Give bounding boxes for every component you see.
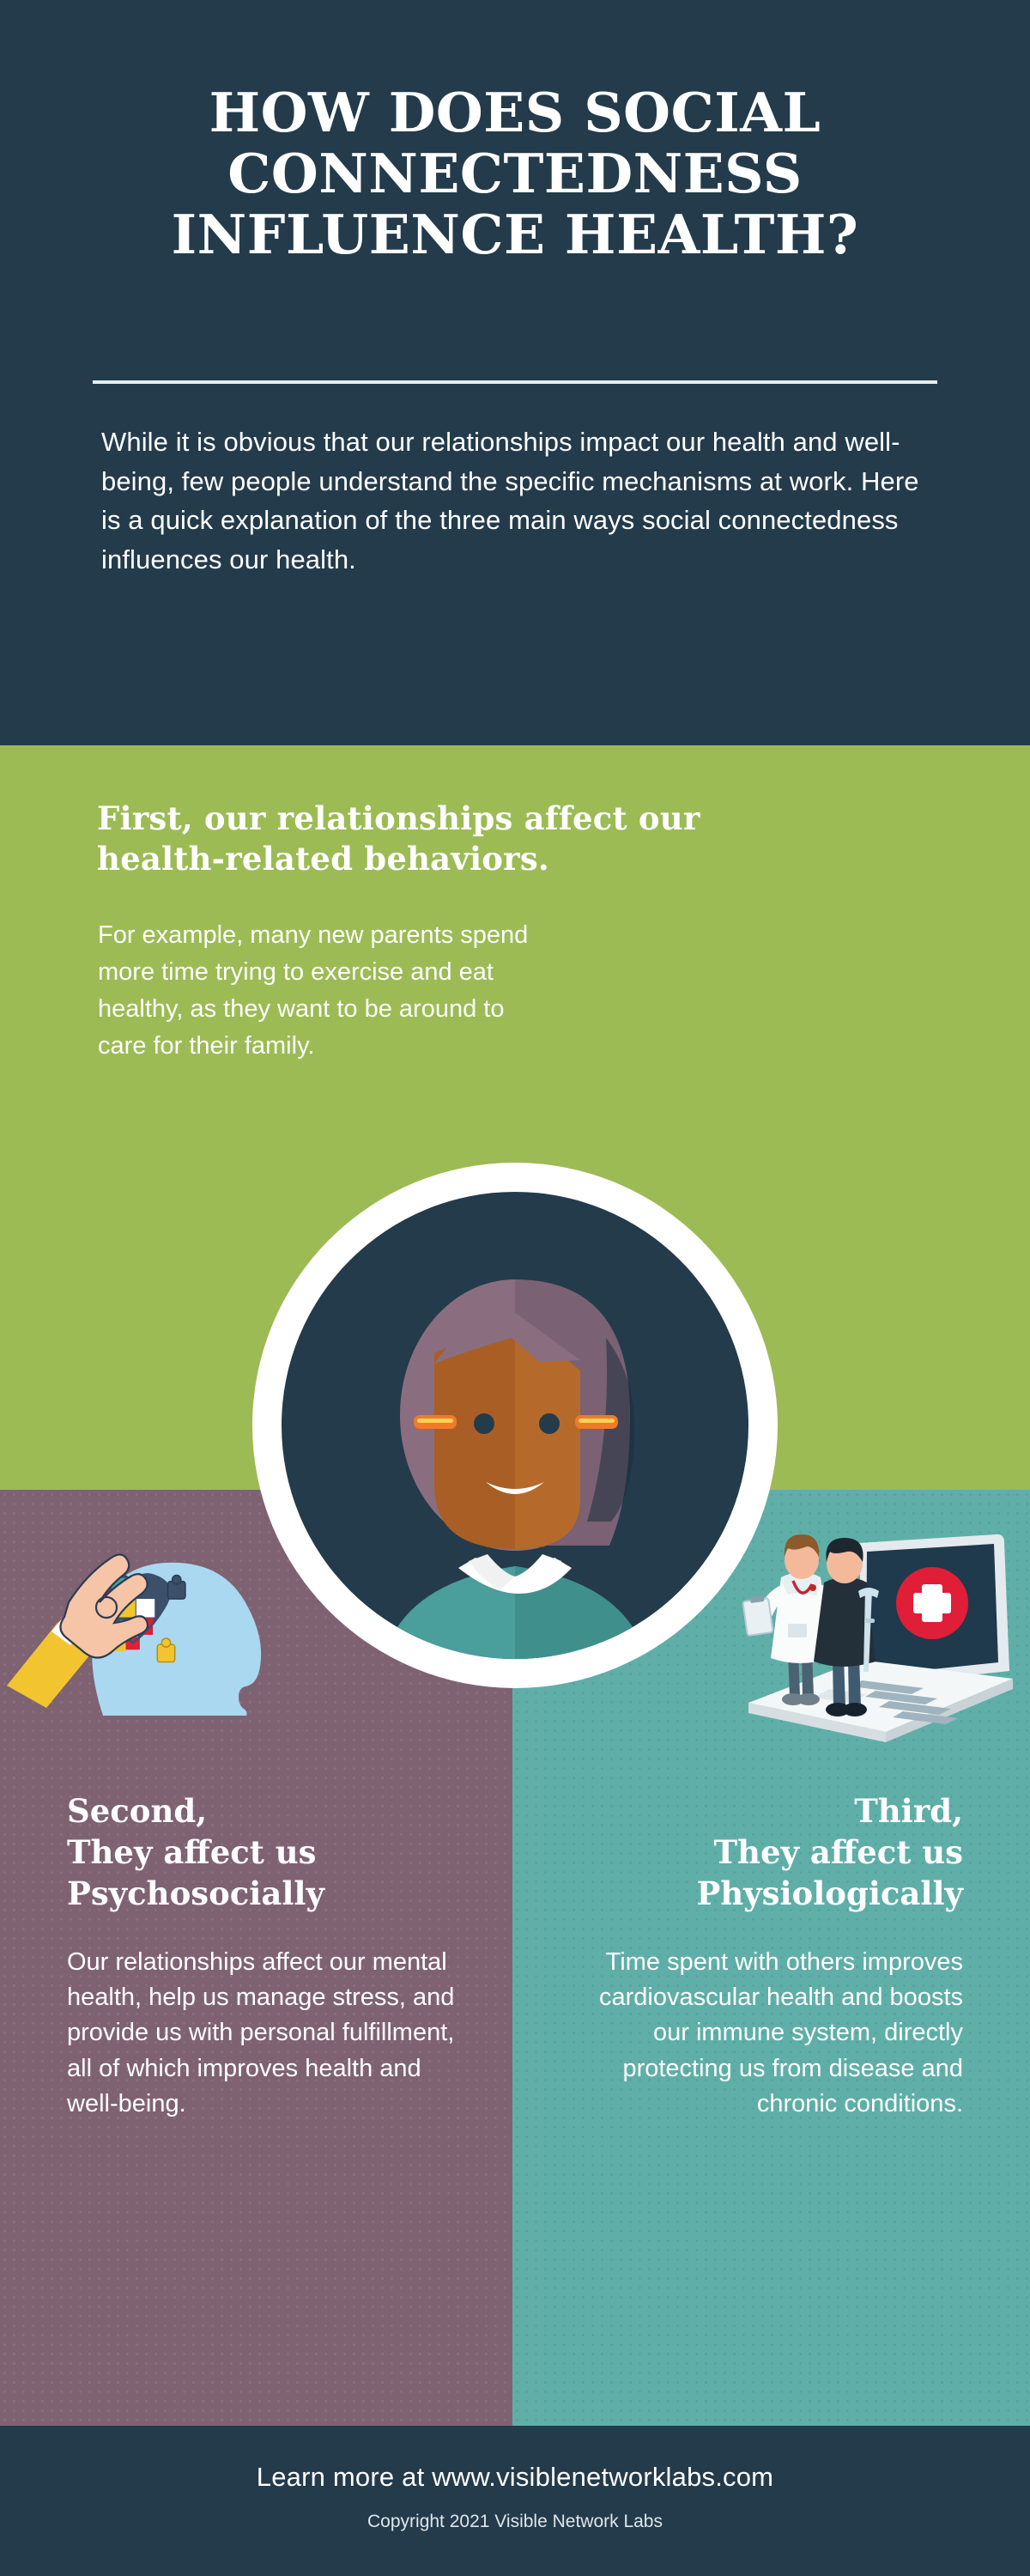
title-line-1: HOW DOES SOCIAL — [0, 82, 1030, 143]
title-line-3: INFLUENCE HEALTH? — [0, 204, 1030, 265]
second-heading-line-1: Second, — [67, 1790, 462, 1832]
third-section-heading: Third, They affect us Physiologically — [568, 1790, 963, 1914]
infographic-page: HOW DOES SOCIAL CONNECTEDNESS INFLUENCE … — [0, 0, 1030, 2576]
second-heading-line-2: They affect us — [67, 1832, 462, 1873]
title-divider — [93, 380, 937, 384]
intro-paragraph: While it is obvious that our relationshi… — [101, 422, 925, 579]
third-heading-line-1: Third, — [568, 1790, 963, 1832]
second-section-heading: Second, They affect us Psychosocially — [67, 1790, 462, 1914]
title-line-2: CONNECTEDNESS — [0, 143, 1030, 204]
footer-section: Learn more at www.visiblenetworklabs.com… — [0, 2426, 1030, 2576]
copyright-text: Copyright 2021 Visible Network Labs — [0, 2512, 1030, 2532]
second-section-body: Our relationships affect our mental heal… — [67, 1945, 470, 2122]
page-title: HOW DOES SOCIAL CONNECTEDNESS INFLUENCE … — [0, 82, 1030, 266]
header-section: HOW DOES SOCIAL CONNECTEDNESS INFLUENCE … — [0, 0, 1030, 745]
learn-more-link[interactable]: Learn more at www.visiblenetworklabs.com — [0, 2462, 1030, 2493]
third-section-body: Time spent with others improves cardiova… — [560, 1945, 963, 2122]
first-section-body: For example, many new parents spend more… — [98, 917, 544, 1065]
third-heading-line-3: Physiologically — [568, 1873, 963, 1914]
third-heading-line-2: They affect us — [568, 1832, 963, 1873]
second-heading-line-3: Psychosocially — [67, 1873, 462, 1914]
center-portrait-avatar — [247, 1157, 783, 1693]
first-section-heading: First, our relationships affect our heal… — [97, 799, 749, 880]
